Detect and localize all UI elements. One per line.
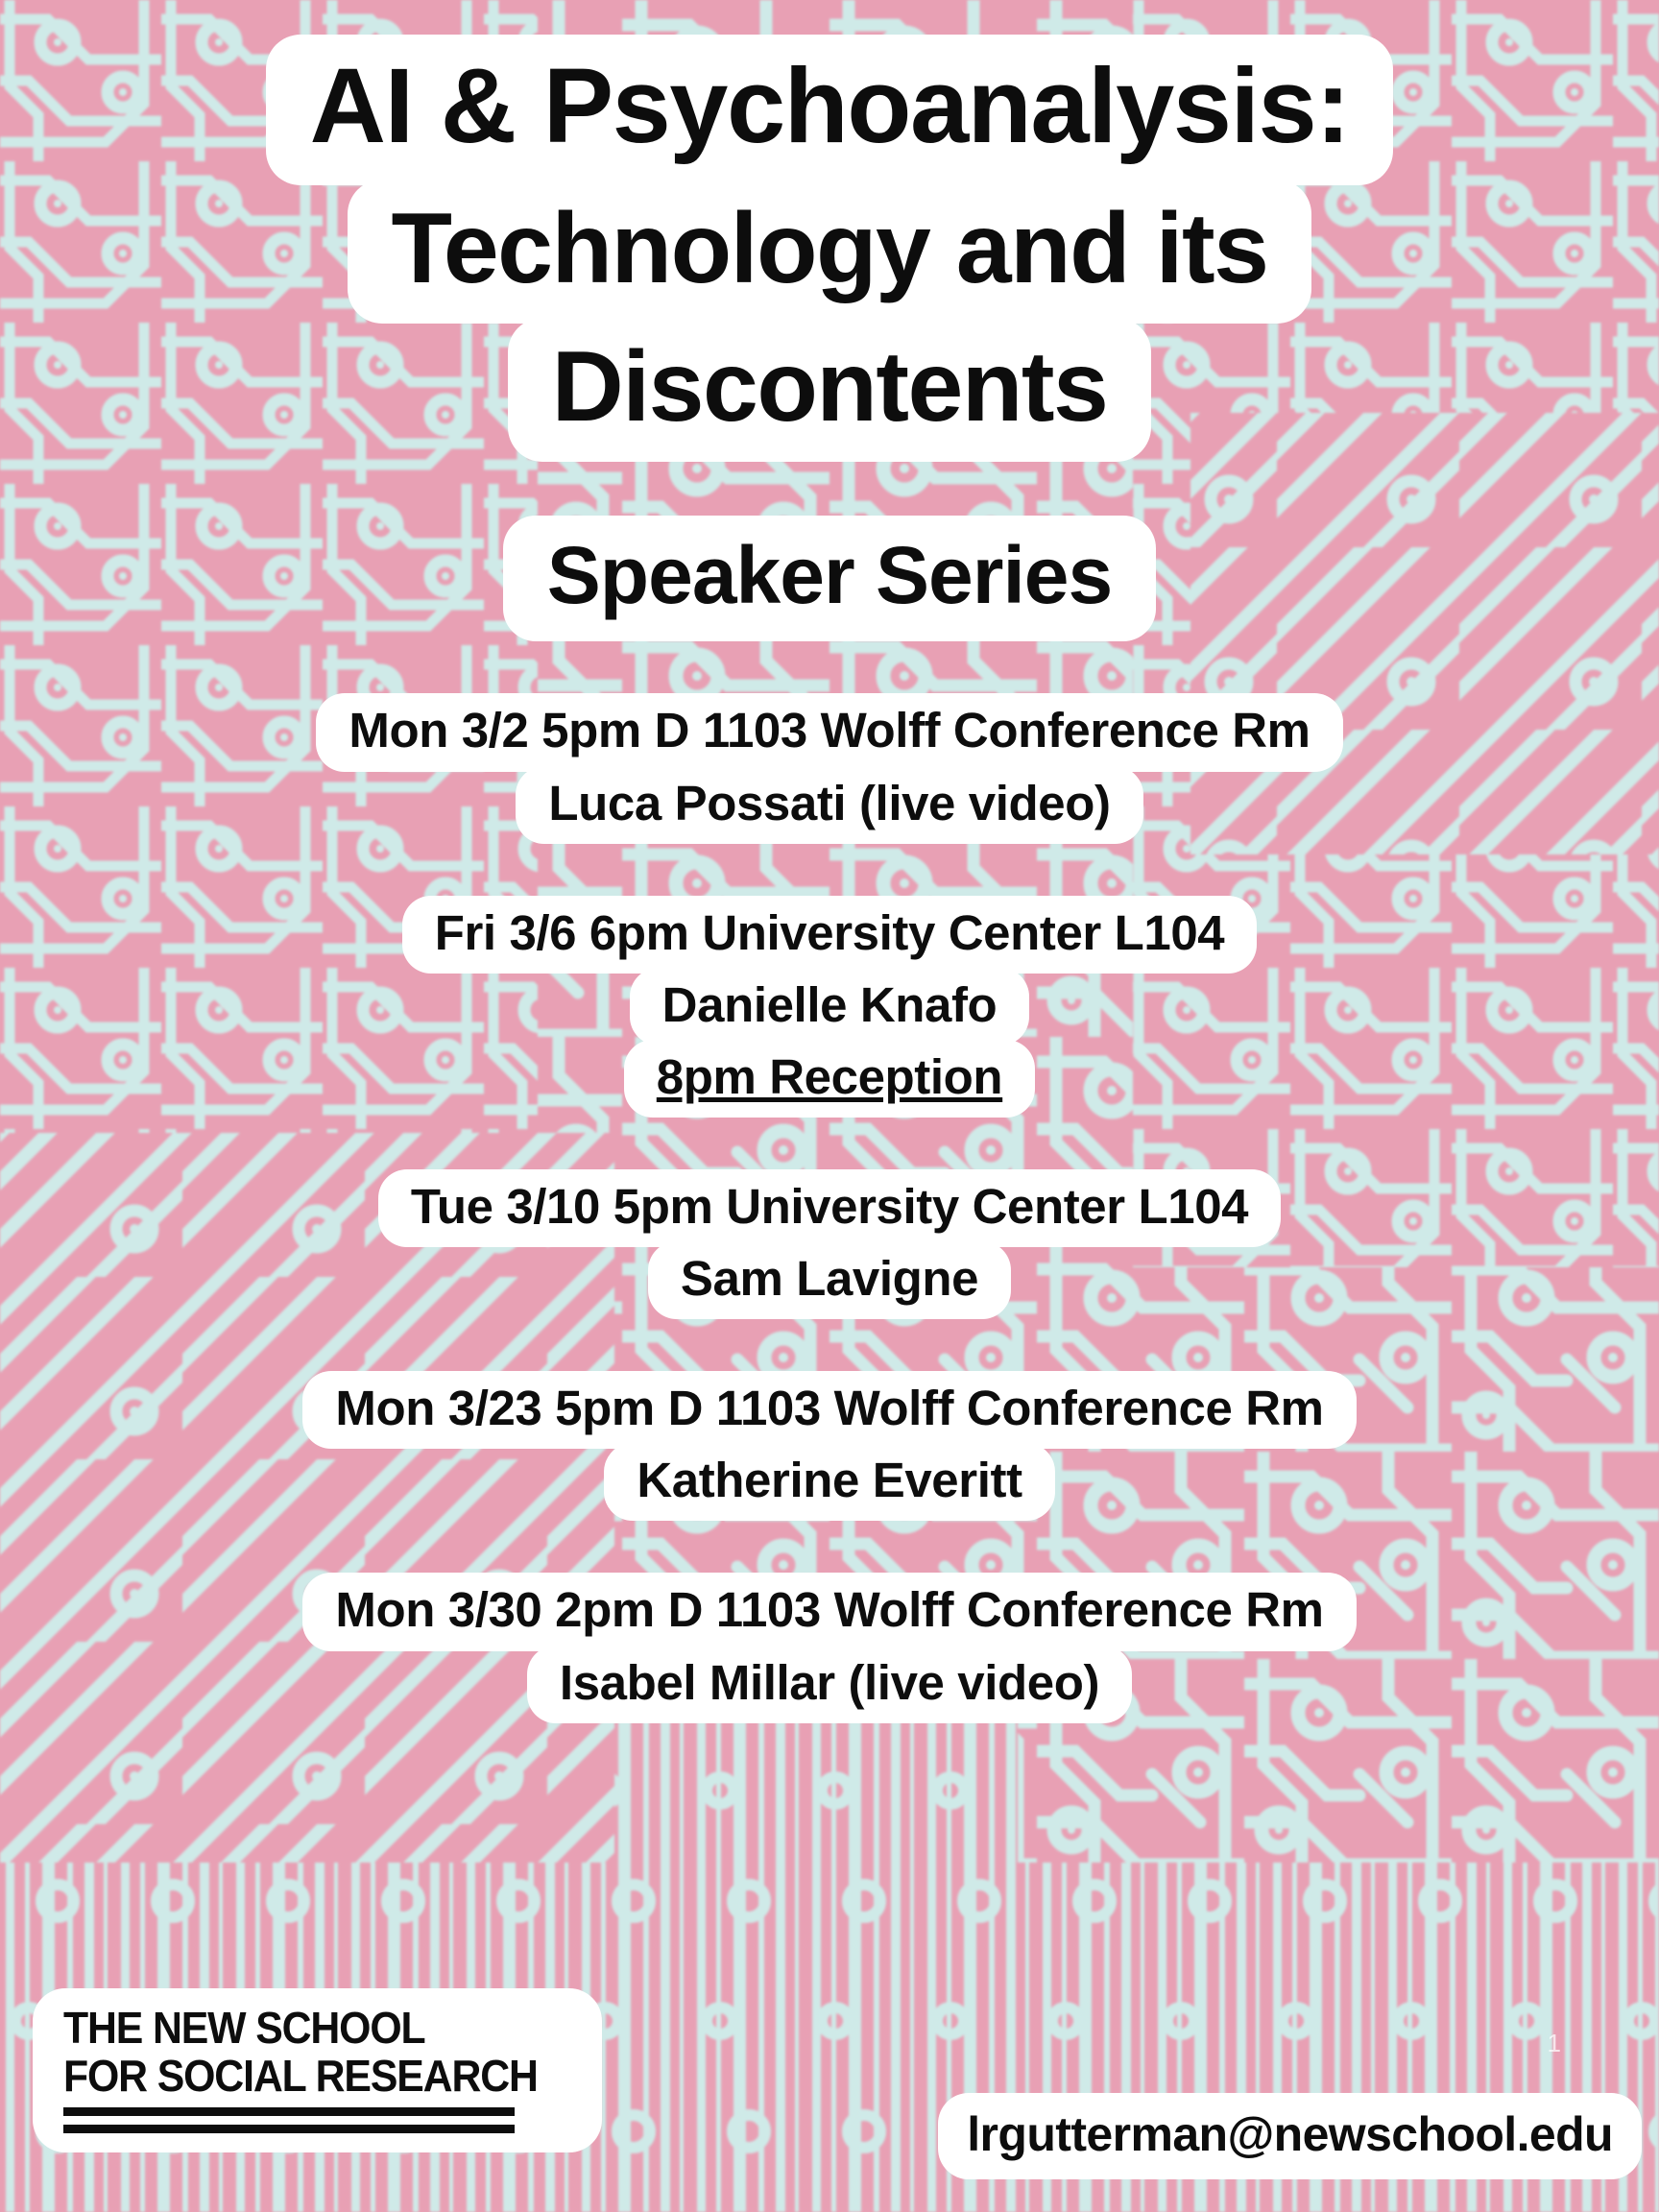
event-when: Mon 3/23 5pm D 1103 Wolff Conference Rm — [302, 1371, 1356, 1449]
event-speaker: Sam Lavigne — [648, 1241, 1011, 1319]
event-speaker: Katherine Everitt — [604, 1443, 1054, 1521]
logo-rule-bottom — [63, 2125, 515, 2133]
poster-canvas: AI & Psychoanalysis: Technology and its … — [0, 0, 1659, 2212]
logo-line-1: THE NEW SCHOOL — [63, 2006, 538, 2050]
event-speaker: Luca Possati (live video) — [516, 766, 1142, 844]
title-line-2: Technology and its — [348, 180, 1312, 324]
event-item: Fri 3/6 6pm University Center L104 Danie… — [402, 896, 1258, 1118]
event-item: Mon 3/23 5pm D 1103 Wolff Conference Rm … — [302, 1371, 1356, 1521]
page-number: 1 — [1548, 2029, 1561, 2058]
event-when: Mon 3/30 2pm D 1103 Wolff Conference Rm — [302, 1573, 1356, 1650]
event-item: Tue 3/10 5pm University Center L104 Sam … — [378, 1169, 1281, 1319]
event-reception: 8pm Reception — [624, 1040, 1035, 1118]
title-line-1: AI & Psychoanalysis: — [266, 35, 1394, 185]
logo-rule-top — [63, 2107, 515, 2116]
poster-subtitle: Speaker Series — [503, 516, 1156, 641]
event-list: Mon 3/2 5pm D 1103 Wolff Conference Rm L… — [0, 693, 1659, 1774]
event-speaker: Isabel Millar (live video) — [527, 1646, 1132, 1723]
event-item: Mon 3/2 5pm D 1103 Wolff Conference Rm L… — [316, 693, 1342, 843]
event-item: Mon 3/30 2pm D 1103 Wolff Conference Rm … — [302, 1573, 1356, 1722]
event-speaker: Danielle Knafo — [630, 968, 1030, 1046]
event-when: Mon 3/2 5pm D 1103 Wolff Conference Rm — [316, 693, 1342, 771]
poster-title: AI & Psychoanalysis: Technology and its … — [0, 35, 1659, 462]
logo-rules — [63, 2107, 515, 2133]
contact-email: lrgutterman@newschool.edu — [938, 2093, 1642, 2179]
event-when: Tue 3/10 5pm University Center L104 — [378, 1169, 1281, 1247]
title-line-3: Discontents — [508, 318, 1152, 462]
event-when: Fri 3/6 6pm University Center L104 — [402, 896, 1258, 974]
poster-content: AI & Psychoanalysis: Technology and its … — [0, 0, 1659, 2212]
logo-line-2: FOR SOCIAL RESEARCH — [63, 2054, 538, 2098]
new-school-logo: THE NEW SCHOOL FOR SOCIAL RESEARCH — [33, 1988, 602, 2152]
poster-footer: THE NEW SCHOOL FOR SOCIAL RESEARCH 1 lrg… — [0, 1934, 1659, 2212]
